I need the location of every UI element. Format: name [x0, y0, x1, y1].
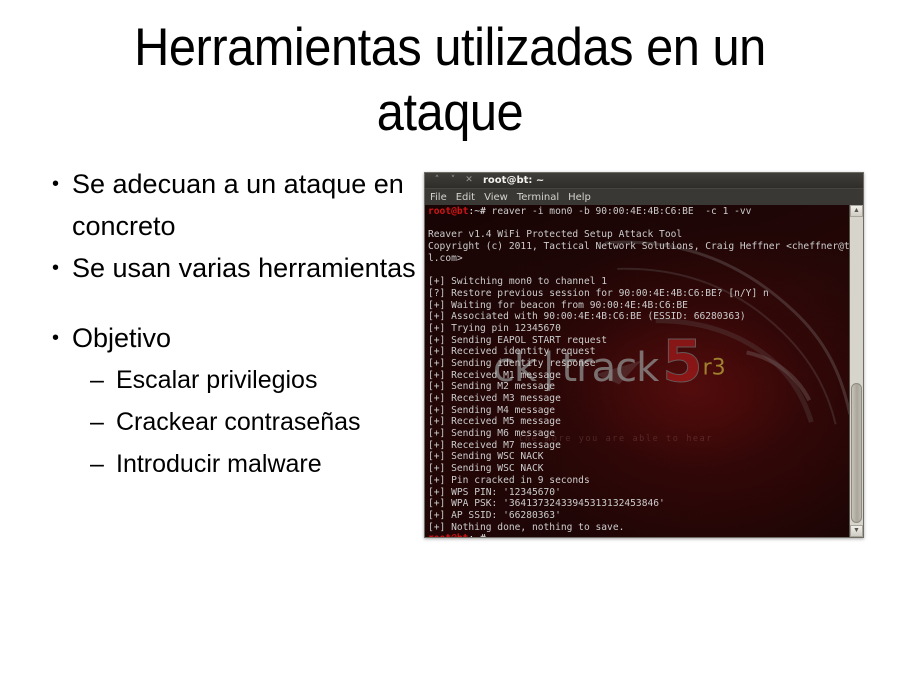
terminal-output-line: [+] Waiting for beacon from 90:00:4E:4B:… [428, 300, 847, 312]
list-item-label: Objetivo [72, 317, 444, 359]
bullet-marker-icon: • [44, 163, 72, 205]
terminal-command: reaver -i mon0 -b 90:00:4E:4B:C6:BE -c 1… [486, 206, 752, 217]
maximize-icon[interactable]: ˅ [445, 173, 461, 188]
terminal-output-line: [+] Received M5 message [428, 416, 847, 428]
terminal-prompt-line: root@bt:~# [428, 533, 847, 537]
terminal-titlebar[interactable]: ˄ ˅ ✕ root@bt: ~ [425, 173, 863, 188]
terminal-output-line [428, 218, 847, 230]
terminal-output-line: [+] Sending EAPOL START request [428, 335, 847, 347]
menu-item-edit[interactable]: Edit [456, 189, 475, 206]
terminal-output-line: Reaver v1.4 WiFi Protected Setup Attack … [428, 229, 847, 241]
terminal-output-line: [+] Nothing done, nothing to save. [428, 522, 847, 534]
sub-list-item-label: Escalar privilegios [116, 359, 444, 401]
terminal-output-line: [+] Received identity request [428, 346, 847, 358]
terminal-body[interactable]: ck|track5r3 the more you are able to hea… [425, 205, 863, 537]
terminal-output-line: [+] Received M7 message [428, 440, 847, 452]
sub-list-item: – Escalar privilegios [44, 359, 444, 401]
window-title: root@bt: ~ [483, 173, 544, 188]
prompt-user: root@bt [428, 206, 468, 217]
sub-list-item-label: Introducir malware [116, 443, 444, 485]
terminal-output-line: [+] WPS PIN: '12345670' [428, 487, 847, 499]
list-item-label: Se adecuan a un ataque en concreto [72, 163, 444, 247]
bullet-marker-icon: • [44, 247, 72, 289]
terminal-output-line: [+] Switching mon0 to channel 1 [428, 276, 847, 288]
page-title: Herramientas utilizadas en un ataque [82, 16, 818, 145]
prompt-path: :~# [468, 533, 485, 537]
terminal-output-line: [+] Associated with 90:00:4E:4B:C6:BE (E… [428, 311, 847, 323]
terminal-output-line: [+] Sending M4 message [428, 405, 847, 417]
dash-marker-icon: – [90, 443, 116, 485]
terminal-output-line: [+] Sending M6 message [428, 428, 847, 440]
dash-marker-icon: – [90, 359, 116, 401]
terminal-output-line: [+] Pin cracked in 9 seconds [428, 475, 847, 487]
prompt-user: root@bt [428, 533, 468, 537]
terminal-output-line: [+] Received M1 message [428, 370, 847, 382]
terminal-output-line: [+] Sending M2 message [428, 381, 847, 393]
close-icon[interactable]: ✕ [461, 173, 477, 188]
terminal-output[interactable]: root@bt:~# reaver -i mon0 -b 90:00:4E:4B… [428, 206, 847, 537]
bullet-list: • Se adecuan a un ataque en concreto • S… [44, 163, 444, 485]
menu-item-file[interactable]: File [430, 189, 447, 206]
terminal-output-line: [?] Restore previous session for 90:00:4… [428, 288, 847, 300]
list-item: • Se adecuan a un ataque en concreto [44, 163, 444, 247]
terminal-output-line: [+] AP SSID: '66280363' [428, 510, 847, 522]
dash-marker-icon: – [90, 401, 116, 443]
terminal-output-line: [+] Sending WSC NACK [428, 463, 847, 475]
list-spacer [44, 289, 444, 317]
bullet-marker-icon: • [44, 317, 72, 359]
menu-item-help[interactable]: Help [568, 189, 591, 206]
menu-item-terminal[interactable]: Terminal [517, 189, 559, 206]
scroll-up-icon[interactable]: ▲ [850, 205, 863, 217]
terminal-scrollbar[interactable]: ▲ ▼ [849, 205, 863, 537]
sub-list-item-label: Crackear contraseñas [116, 401, 444, 443]
scrollbar-thumb[interactable] [851, 383, 862, 523]
terminal-output-line [428, 264, 847, 276]
prompt-path: :~# [468, 206, 485, 217]
terminal-screen[interactable]: ck|track5r3 the more you are able to hea… [425, 205, 849, 537]
list-item: • Objetivo [44, 317, 444, 359]
terminal-output-line: [+] Trying pin 12345670 [428, 323, 847, 335]
sub-list-item: – Introducir malware [44, 443, 444, 485]
terminal-output-line: [+] WPA PSK: '36413732433945313132453846… [428, 498, 847, 510]
list-item: • Se usan varias herramientas [44, 247, 444, 289]
terminal-menubar[interactable]: File Edit View Terminal Help [425, 188, 863, 205]
terminal-output-line: [+] Received M3 message [428, 393, 847, 405]
terminal-output-line: [+] Sending identity response [428, 358, 847, 370]
terminal-window[interactable]: ˄ ˅ ✕ root@bt: ~ File Edit View Terminal… [424, 172, 864, 538]
terminal-output-line: Copyright (c) 2011, Tactical Network Sol… [428, 241, 847, 253]
terminal-command-line: root@bt:~# reaver -i mon0 -b 90:00:4E:4B… [428, 206, 847, 218]
terminal-output-line: [+] Sending WSC NACK [428, 451, 847, 463]
sub-list-item: – Crackear contraseñas [44, 401, 444, 443]
scroll-down-icon[interactable]: ▼ [850, 525, 863, 537]
minimize-icon[interactable]: ˄ [429, 173, 445, 188]
menu-item-view[interactable]: View [484, 189, 508, 206]
terminal-output-line: l.com> [428, 253, 847, 265]
list-item-label: Se usan varias herramientas [72, 247, 444, 289]
